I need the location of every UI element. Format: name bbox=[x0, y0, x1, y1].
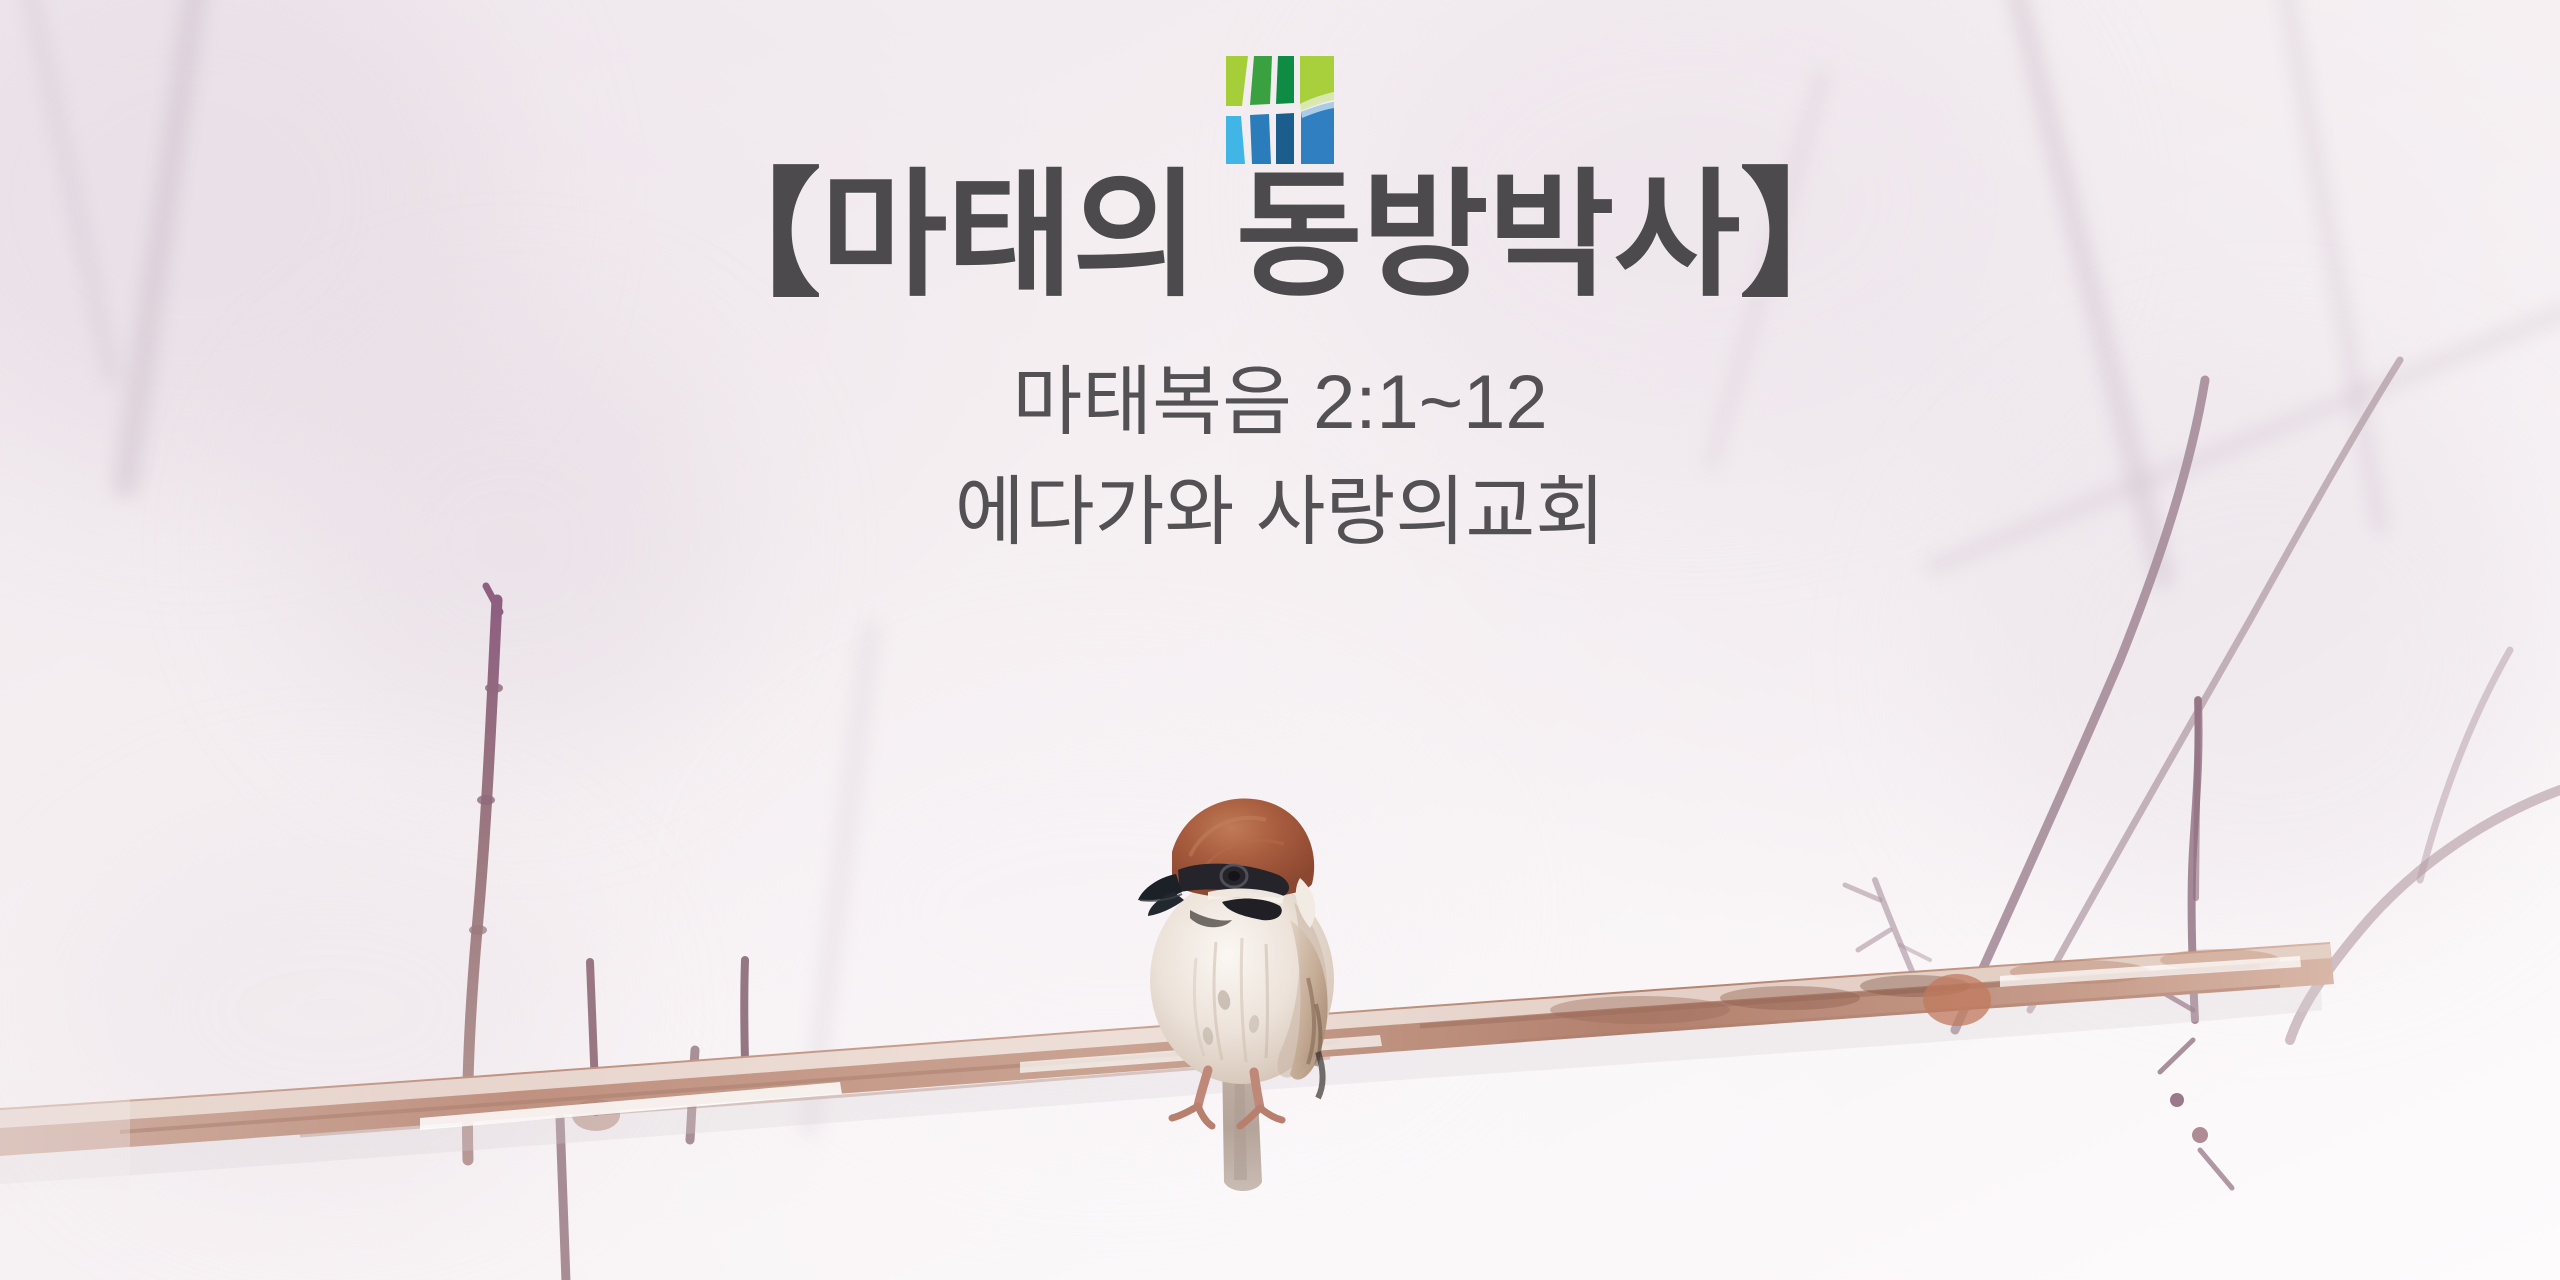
sparrow-bird bbox=[1104, 752, 1384, 1212]
church-name: 에다가와 사랑의교회 bbox=[0, 464, 2560, 561]
sermon-title-card: 【마태의 동방박사】 마태복음 2:1~12 에다가와 사랑의교회 bbox=[0, 0, 2560, 1280]
scripture-reference: 마태복음 2:1~12 bbox=[0, 354, 2560, 451]
title-text-block: 【마태의 동방박사】 마태복음 2:1~12 에다가와 사랑의교회 bbox=[0, 152, 2560, 561]
page-title: 【마태의 동방박사】 bbox=[0, 152, 2560, 320]
